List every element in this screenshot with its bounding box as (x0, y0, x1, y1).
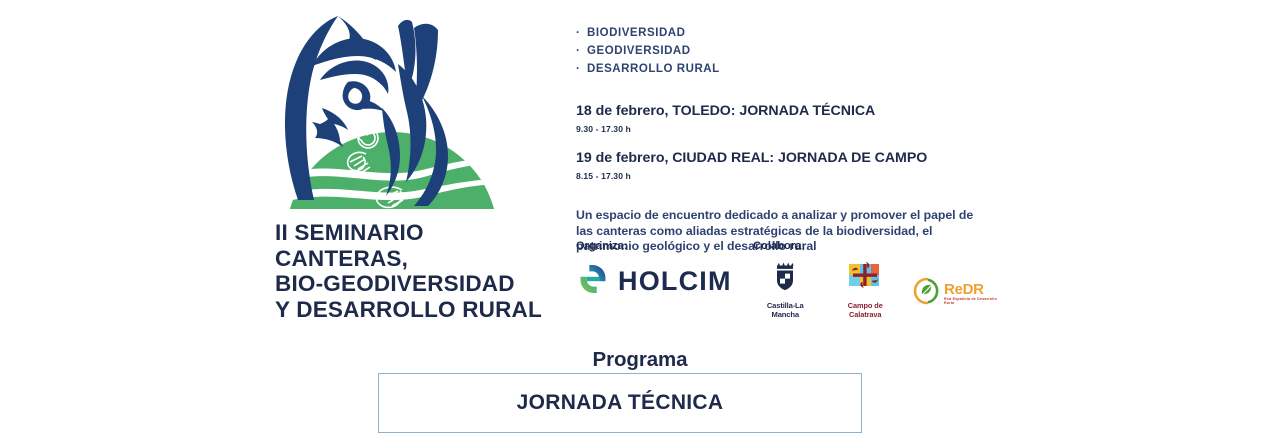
redr-wordmark: ReDR (944, 283, 1006, 297)
topic-item: ·GEODIVERSIDAD (576, 42, 1006, 60)
info-column: ·BIODIVERSIDAD ·GEODIVERSIDAD ·DESARROLL… (576, 24, 1006, 255)
castilla-la-mancha-shield-icon (768, 281, 802, 298)
bullet-dot-icon: · (576, 60, 580, 78)
topic-label: BIODIVERSIDAD (587, 27, 686, 39)
programa-heading: Programa (0, 348, 1280, 372)
bullet-dot-icon: · (576, 42, 580, 60)
campo-de-calatrava-logo: Campo de Calatrava (831, 261, 899, 319)
sponsors-section: Organiza: Colabora: HOLCIM (576, 240, 1006, 320)
campo-de-calatrava-mosaic-icon (845, 282, 885, 299)
date-entry-ciudad-real: 19 de febrero, CIUDAD REAL: JORNADA DE C… (576, 150, 1006, 182)
redr-leaf-icon (913, 277, 941, 310)
programa-box-title: JORNADA TÉCNICA (379, 391, 861, 415)
collaborator-logos: Castilla-La Mancha (753, 260, 1006, 319)
date-headline: 18 de febrero, TOLEDO: JORNADA TÉCNICA (576, 103, 1006, 120)
organiza-label-group: Organiza: (576, 240, 628, 252)
page-title: II SEMINARIO CANTERAS, BIO-GEODIVERSIDAD… (275, 220, 555, 322)
brand-block: II SEMINARIO CANTERAS, BIO-GEODIVERSIDAD… (262, 4, 552, 334)
holcim-logo: HOLCIM (576, 262, 732, 301)
organiza-label: Organiza: (576, 240, 628, 252)
date-time: 9.30 - 17.30 h (576, 123, 1006, 135)
redr-logo: ReDR Red Española de Desarrollo Rural (913, 277, 1006, 310)
topic-label: GEODIVERSIDAD (587, 45, 691, 57)
redr-tagline: Red Española de Desarrollo Rural (944, 297, 1006, 305)
date-headline: 19 de febrero, CIUDAD REAL: JORNADA DE C… (576, 150, 1006, 167)
topic-list: ·BIODIVERSIDAD ·GEODIVERSIDAD ·DESARROLL… (576, 24, 1006, 78)
colabora-label: Colabora: (753, 240, 805, 252)
colabora-label-group: Colabora: (753, 240, 805, 252)
holcim-mark-icon (576, 262, 610, 301)
date-time: 8.15 - 17.30 h (576, 170, 1006, 182)
castilla-la-mancha-logo: Castilla-La Mancha (753, 260, 817, 319)
redr-wordmark-group: ReDR Red Española de Desarrollo Rural (944, 283, 1006, 305)
bullet-dot-icon: · (576, 24, 580, 42)
castilla-la-mancha-name: Castilla-La Mancha (753, 301, 817, 319)
holcim-wordmark: HOLCIM (618, 266, 732, 297)
topic-item: ·BIODIVERSIDAD (576, 24, 1006, 42)
programa-box: JORNADA TÉCNICA (378, 373, 862, 433)
owl-hill-logo-icon (262, 4, 522, 219)
topic-label: DESARROLLO RURAL (587, 63, 720, 75)
redr-name: ReDR (944, 281, 984, 298)
date-entry-toledo: 18 de febrero, TOLEDO: JORNADA TÉCNICA 9… (576, 103, 1006, 135)
topic-item: ·DESARROLLO RURAL (576, 60, 1006, 78)
campo-de-calatrava-name: Campo de Calatrava (831, 301, 899, 319)
